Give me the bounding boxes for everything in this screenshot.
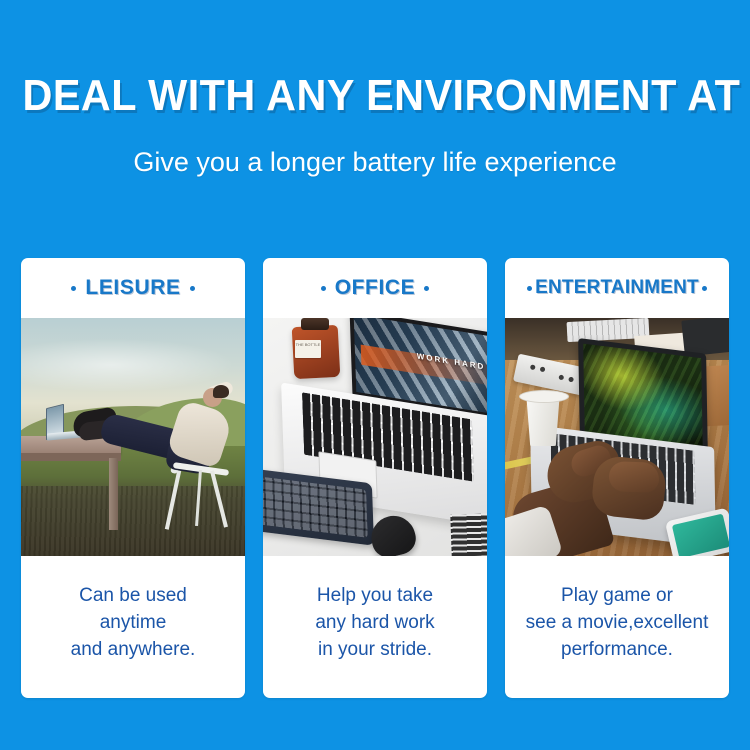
page-subtitle: Give you a longer battery life experienc… — [0, 145, 750, 179]
ground-texture — [21, 486, 245, 556]
card-title-leisure: LEISURE — [21, 258, 245, 318]
socket-hole — [540, 366, 546, 372]
feature-card-leisure[interactable]: LEISURE — [21, 258, 245, 698]
bottle-tag: THE BOTTLE — [295, 340, 321, 358]
caption-line: and anywhere. — [71, 637, 196, 662]
bullet-dot-icon — [702, 286, 707, 291]
bullet-dot-icon — [71, 286, 76, 291]
card-title-text: OFFICE — [335, 276, 416, 300]
socket-hole — [530, 364, 536, 370]
card-caption-office: Help you take any hard work in your stri… — [263, 556, 487, 698]
caption-line: Can be used — [79, 583, 187, 608]
card-title-text: LEISURE — [85, 276, 180, 300]
desk-edge — [21, 453, 121, 461]
caption-line: anytime — [100, 610, 167, 635]
coffee-cup-rim — [519, 390, 569, 403]
caption-line: Play game or — [561, 583, 673, 608]
card-caption-leisure: Can be used anytime and anywhere. — [21, 556, 245, 698]
card-photo-office: THE BOTTLE WORK HARD — [263, 318, 487, 556]
caption-line: see a movie,excellent — [526, 610, 709, 635]
card-photo-leisure — [21, 318, 245, 556]
page-title: DEAL WITH ANY ENVIRONMENT AT EASE — [23, 72, 728, 120]
keyboard-keys — [263, 476, 368, 538]
bullet-dot-icon — [190, 286, 195, 291]
hand-right-fingers — [608, 461, 659, 493]
card-title-text: ENTERTAINMENT — [535, 277, 699, 299]
socket-hole — [558, 374, 564, 380]
caption-line: any hard work — [315, 610, 434, 635]
feature-cards: LEISURE — [21, 258, 729, 698]
background-strip — [450, 513, 487, 556]
phone-screen — [672, 514, 729, 556]
person-hair — [213, 385, 229, 398]
card-caption-entertainment: Play game or see a movie,excellent perfo… — [505, 556, 729, 698]
caption-line: in your stride. — [318, 637, 432, 662]
bullet-dot-icon — [424, 286, 429, 291]
card-title-office: OFFICE — [263, 258, 487, 318]
caption-line: performance. — [561, 637, 673, 662]
feature-card-office[interactable]: OFFICE THE BOTTLE WORK HARD — [263, 258, 487, 698]
caption-line: Help you take — [317, 583, 433, 608]
promo-poster: DEAL WITH ANY ENVIRONMENT AT EASE Give y… — [0, 0, 750, 750]
socket-hole — [568, 377, 574, 383]
bullet-dot-icon — [321, 286, 326, 291]
desk-leg — [109, 458, 118, 530]
feature-card-entertainment[interactable]: ENTERTAINMENT — [505, 258, 729, 698]
card-photo-entertainment — [505, 318, 729, 556]
bullet-dot-icon — [527, 286, 532, 291]
bottle-cap — [301, 318, 329, 330]
card-title-entertainment: ENTERTAINMENT — [505, 258, 729, 318]
